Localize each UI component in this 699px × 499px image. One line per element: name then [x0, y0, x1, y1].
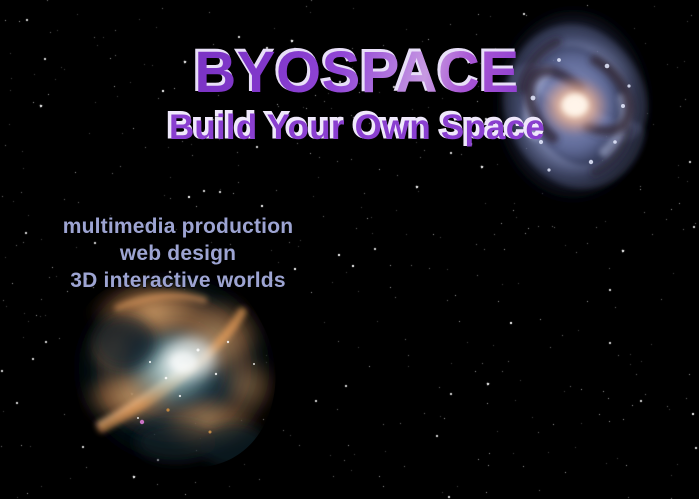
- wordmark-fill: BYOSPACE: [194, 40, 519, 105]
- tagline-glyphs: Build Your Own Space Build Your Own Spac…: [169, 110, 545, 145]
- service-item-multimedia-production: multimedia production: [34, 213, 322, 240]
- wordmark-glyphs: BYOSPACE BYOSPACE: [194, 44, 519, 102]
- site-tagline: Build Your Own Space Build Your Own Spac…: [0, 110, 699, 145]
- services-list: multimedia production web design 3D inte…: [34, 213, 322, 294]
- tagline-fill: Build Your Own Space: [169, 108, 545, 147]
- service-item-web-design: web design: [34, 240, 322, 267]
- headline-text-layer: BYOSPACE BYOSPACE Build Your Own Space B…: [0, 0, 699, 499]
- service-item-3d-interactive-worlds: 3D interactive worlds: [34, 267, 322, 294]
- site-wordmark: BYOSPACE BYOSPACE: [0, 44, 699, 102]
- byospace-splash-page: BYOSPACE BYOSPACE Build Your Own Space B…: [0, 0, 699, 499]
